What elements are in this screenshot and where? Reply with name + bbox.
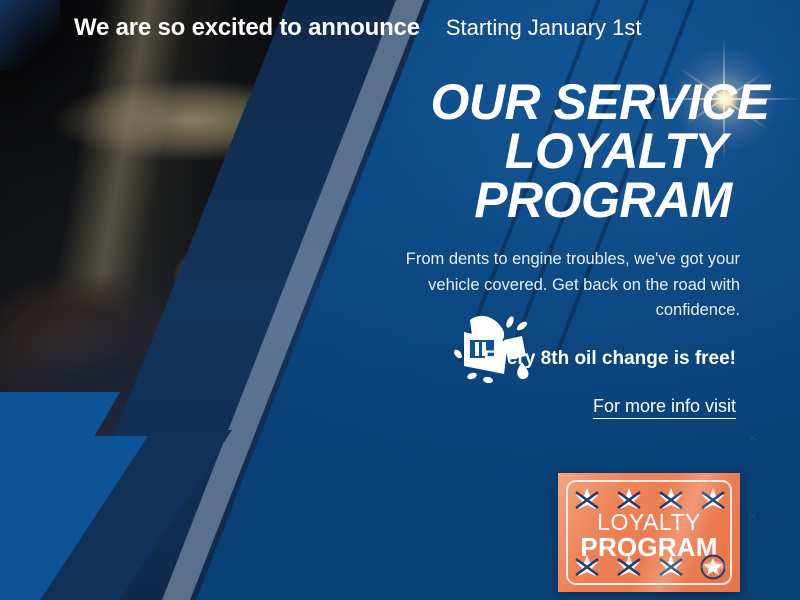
- watermark-mark-1: ×: [748, 430, 757, 448]
- promo-poster: We are so excited to announce Starting J…: [0, 0, 800, 600]
- loyalty-card[interactable]: LOYALTY PROGRAM: [558, 473, 740, 592]
- start-date-text: Starting January 1st: [446, 15, 642, 41]
- page-title: OUR SERVICE LOYALTY PROGRAM: [398, 78, 778, 225]
- x-stamp-icon: [572, 554, 602, 580]
- more-info-label: For more info visit: [593, 396, 736, 419]
- header-row: We are so excited to announce Starting J…: [0, 14, 800, 42]
- loyalty-card-label-line1: LOYALTY: [558, 511, 740, 534]
- content-column: OUR SERVICE LOYALTY PROGRAM From dents t…: [398, 78, 778, 417]
- star-stamp-icon: [698, 554, 728, 580]
- more-info-link[interactable]: For more info visit: [398, 396, 778, 417]
- description-text: From dents to engine troubles, we've got…: [398, 247, 778, 324]
- watermark-mark-2: ×: [748, 508, 757, 526]
- x-stamp-icon: [656, 554, 686, 580]
- announce-text: We are so excited to announce: [74, 14, 420, 42]
- title-line-2: LOYALTY: [398, 127, 778, 176]
- title-line-3: PROGRAM: [398, 176, 778, 225]
- stamp-row-bottom: [572, 554, 728, 580]
- title-line-1: OUR SERVICE: [398, 78, 778, 127]
- x-stamp-icon: [614, 554, 644, 580]
- x-stamp-icon: [698, 487, 728, 513]
- offer-text: Every 8th oil change is free!: [398, 348, 778, 370]
